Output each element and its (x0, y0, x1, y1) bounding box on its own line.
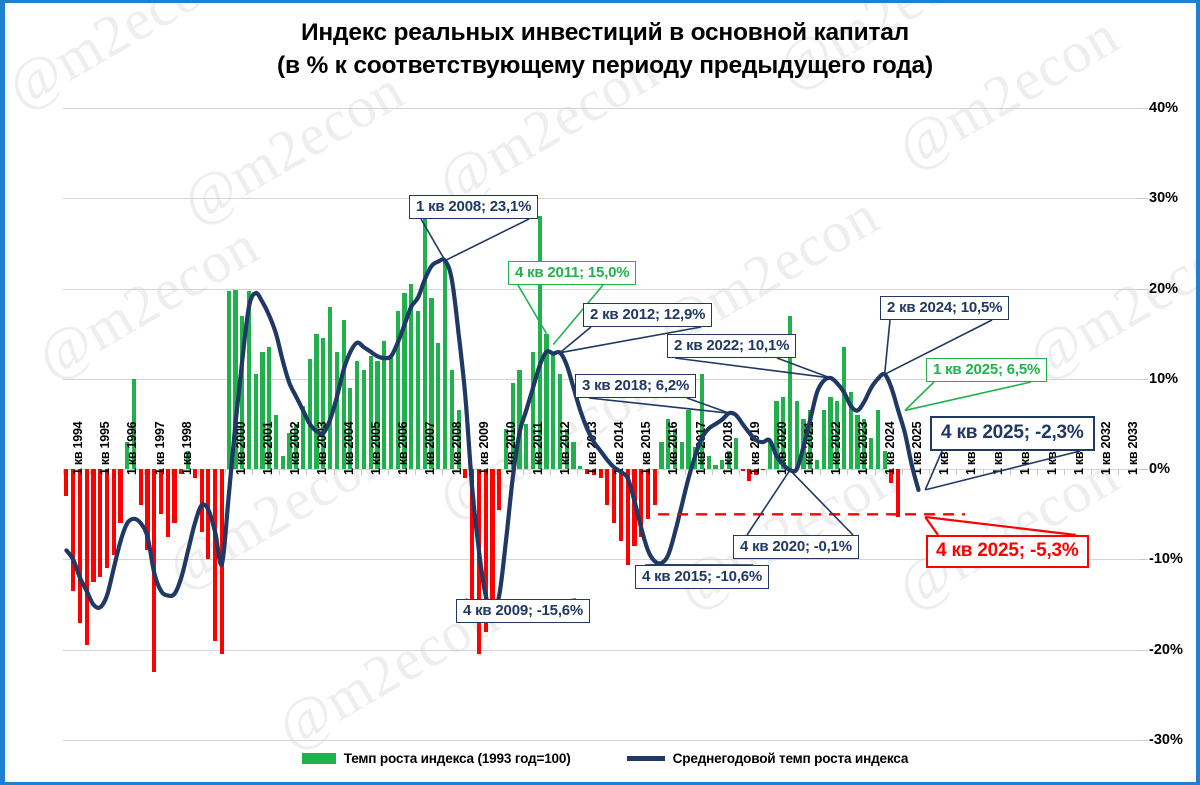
annotation-label: 4 кв 2009; -15,6% (456, 599, 590, 623)
annotation-leader-line (445, 219, 529, 261)
annotation-label: 4 кв 2025; -2,3% (930, 416, 1095, 451)
annotation-label: 4 кв 2015; -10,6% (635, 565, 769, 589)
annotation-label: 1 кв 2008; 23,1% (409, 195, 538, 219)
annotation-leader-line (885, 320, 890, 374)
legend-bar-label: Темп роста индекса (1993 год=100) (344, 751, 571, 766)
y-axis-label: -20% (1149, 642, 1183, 658)
y-axis-label: 40% (1149, 100, 1178, 116)
y-axis-label: 20% (1149, 281, 1178, 297)
annotation-leader-line (518, 285, 547, 334)
gridline (63, 740, 1145, 741)
chart-title-line-1: Индекс реальных инвестиций в основной ка… (5, 17, 1200, 50)
legend-item-bars: Темп роста индекса (1993 год=100) (302, 751, 571, 766)
annotation-label: 1 кв 2025; 6,5% (926, 358, 1047, 382)
annotation-label: 4 кв 2020; -0,1% (733, 535, 859, 559)
annotation-label: 2 кв 2022; 10,1% (667, 334, 796, 358)
chart-frame: @m2econ@m2econ@m2econ@m2econ@m2econ@m2ec… (0, 0, 1200, 785)
annotation-leader-line (925, 451, 942, 490)
y-axis-label: 10% (1149, 371, 1178, 387)
annotation-leader-line (905, 382, 1031, 410)
annotation-leader-line (905, 382, 934, 410)
chart-title-line-2: (в % к соответствующему периоду предыдущ… (5, 50, 1200, 83)
legend-line-label: Среднегодовой темп роста индекса (673, 751, 909, 766)
annotation-label: 2 кв 2012; 12,9% (583, 303, 712, 327)
legend-line-swatch (627, 756, 665, 761)
chart-title: Индекс реальных инвестиций в основной ка… (5, 17, 1200, 82)
y-axis-label: -30% (1149, 732, 1183, 748)
y-axis-label: -10% (1149, 551, 1183, 567)
legend-bar-swatch (302, 753, 336, 764)
annotation-leader-line (925, 517, 938, 535)
annotation-label: 3 кв 2018; 6,2% (575, 374, 696, 398)
legend-item-line: Среднегодовой темп роста индекса (627, 751, 909, 766)
annotation-leader-line (421, 219, 445, 261)
annotation-label: 2 кв 2024; 10,5% (880, 296, 1009, 320)
annotation-leader-line (675, 358, 831, 378)
annotation-leader-line (925, 517, 1076, 535)
annotation-leader-line (790, 470, 853, 535)
y-tick-mark (1139, 740, 1148, 741)
annotation-leader-line (747, 470, 790, 535)
annotation-label: 4 кв 2025; -5,3% (926, 535, 1089, 568)
annotation-leader-line (925, 451, 1080, 490)
y-axis-label: 0% (1149, 461, 1170, 477)
y-axis-label: 30% (1149, 190, 1178, 206)
annotation-label: 4 кв 2011; 15,0% (508, 261, 636, 285)
chart-legend: Темп роста индекса (1993 год=100) Средне… (5, 751, 1200, 766)
